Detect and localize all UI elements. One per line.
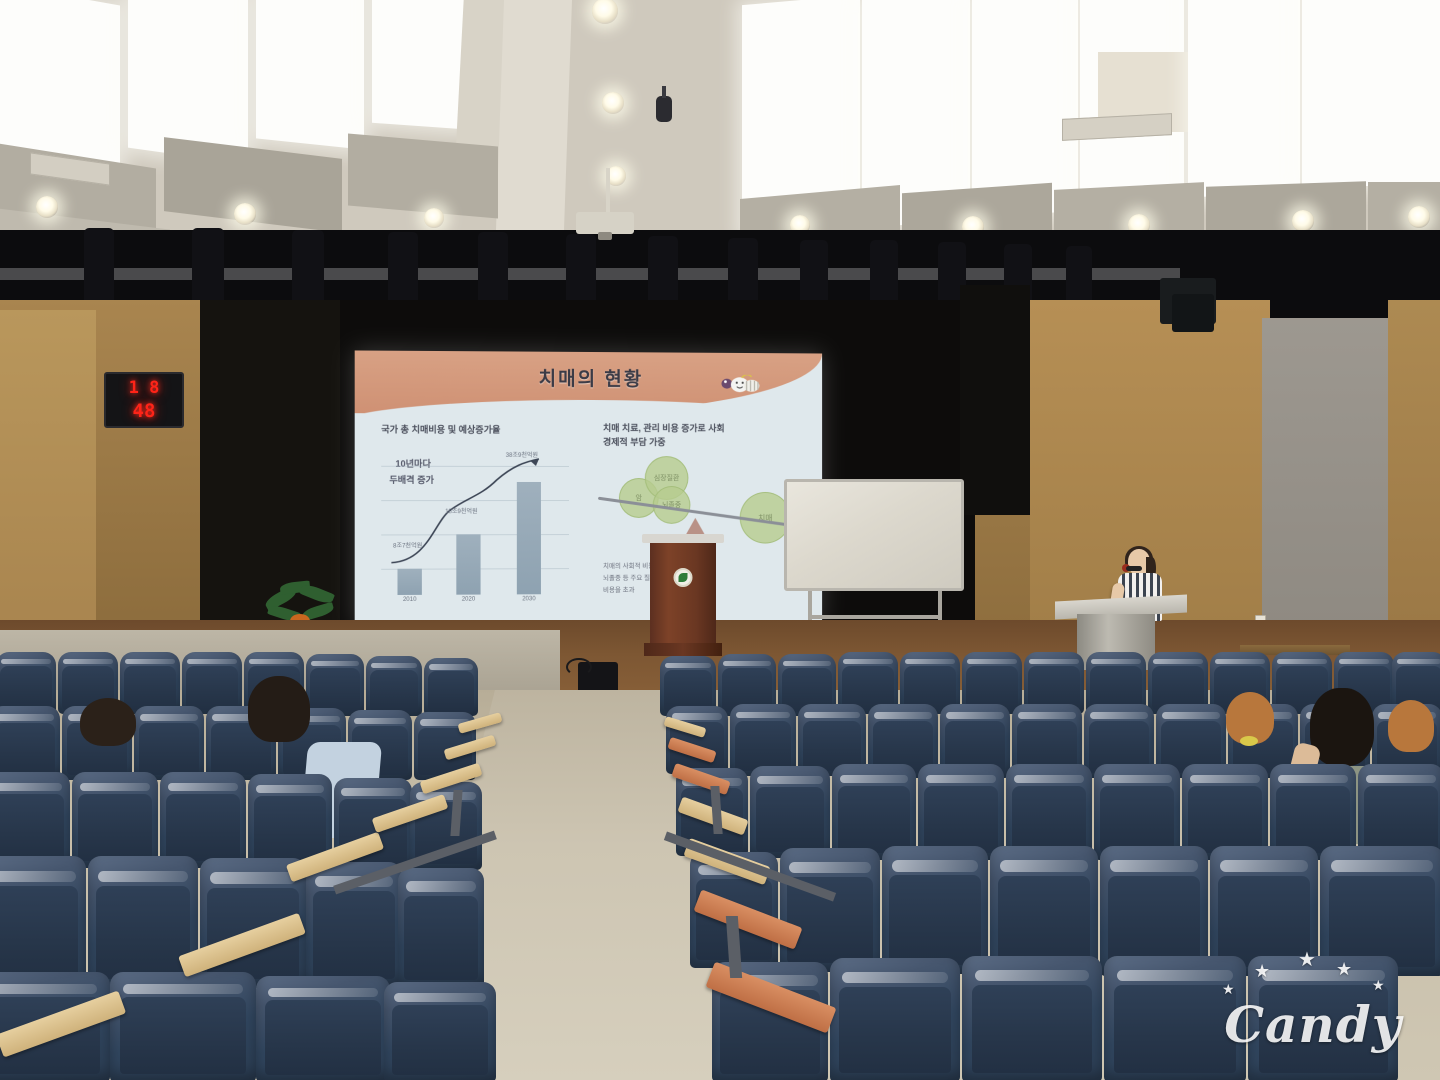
audience-hair-tie xyxy=(1240,736,1258,746)
bar-chart: 8조7천억원 18조9천억원 38조9천억원 2010 2020 2030 xyxy=(377,444,579,596)
ceiling-light-panel xyxy=(372,0,464,129)
ceiling-tile xyxy=(348,133,498,218)
slide-left-heading: 국가 총 치매비용 및 예상증가율 xyxy=(381,423,563,437)
seat[interactable] xyxy=(398,868,484,988)
seat[interactable] xyxy=(962,956,1102,1080)
wall-mounted-speaker xyxy=(1172,294,1214,332)
seat[interactable] xyxy=(120,652,180,714)
seat[interactable] xyxy=(160,772,246,868)
ceiling-downlight xyxy=(424,208,444,228)
ceiling-projector xyxy=(576,212,634,234)
gooseneck-microphone xyxy=(1126,566,1142,571)
projection-screen: 치매의 현황 국가 총 치매비용 및 예상증가율 10년마다 두배격 증가 xyxy=(355,350,822,625)
podium-top xyxy=(642,534,724,543)
ceiling xyxy=(0,0,1440,250)
bar-value-label: 38조9천억원 xyxy=(487,450,557,459)
podium-body xyxy=(650,543,716,643)
seat[interactable] xyxy=(0,772,70,868)
seat[interactable] xyxy=(0,856,86,988)
wall-right-grey-panel xyxy=(1262,318,1390,648)
slide-right-heading-2: 경제적 부담 가중 xyxy=(603,436,810,449)
ceiling-pillar xyxy=(496,0,573,240)
security-camera-icon xyxy=(656,96,672,122)
audience-person-head xyxy=(80,698,136,746)
bar-value-label: 8조7천억원 xyxy=(375,540,440,549)
seat[interactable] xyxy=(72,772,158,868)
bar-value-label: 18조9천억원 xyxy=(428,506,495,515)
ceiling-downlight xyxy=(1292,210,1314,232)
ceiling-light-panel xyxy=(1302,0,1440,186)
mobile-whiteboard xyxy=(784,479,964,591)
seat[interactable] xyxy=(882,846,988,974)
projector-mount-pole xyxy=(606,168,610,214)
seat[interactable] xyxy=(780,848,880,972)
podium-base xyxy=(644,643,722,656)
wall-left-wood-panel xyxy=(0,310,96,630)
auditorium-photo: 1 8 48 치매의 현황 국가 총 치매비용 및 예상증가율 10년마다 두배… xyxy=(0,0,1440,1080)
bar-2010 xyxy=(397,569,421,595)
led-line-1: 1 8 xyxy=(106,378,182,398)
bee-icon xyxy=(718,375,763,395)
slide-right-heading-1: 치매 치료, 관리 비용 증가로 사회 xyxy=(603,422,810,436)
seat[interactable] xyxy=(306,654,364,716)
leaf-emblem-icon xyxy=(674,568,693,587)
bar-2030 xyxy=(517,482,541,594)
seat[interactable] xyxy=(134,706,204,780)
wall-right-dark xyxy=(960,285,1030,515)
projector-lens-icon xyxy=(598,232,612,240)
seat[interactable] xyxy=(256,976,390,1080)
bar-2020 xyxy=(456,534,480,594)
seat[interactable] xyxy=(830,958,960,1080)
ceiling-downlight xyxy=(1408,206,1430,228)
whiteboard-crossbar xyxy=(808,615,942,619)
ceiling-light-panel xyxy=(256,0,364,150)
seat[interactable] xyxy=(182,652,242,714)
seat[interactable] xyxy=(0,652,56,714)
seat[interactable] xyxy=(1104,956,1246,1080)
ceiling-downlight xyxy=(36,196,58,218)
presentation-slide: 치매의 현황 국가 총 치매비용 및 예상증가율 10년마다 두배격 증가 xyxy=(355,350,822,625)
bar-x-label: 2010 xyxy=(391,597,428,603)
bar-x-label: 2030 xyxy=(511,596,547,602)
seat[interactable] xyxy=(0,706,60,780)
seat[interactable] xyxy=(384,982,496,1080)
bar-x-label: 2020 xyxy=(450,597,486,603)
audience-person-head xyxy=(1388,700,1434,752)
led-line-2: 48 xyxy=(106,400,182,422)
seat[interactable] xyxy=(750,766,830,858)
seat[interactable] xyxy=(110,972,256,1080)
camera-mount xyxy=(662,86,666,98)
ceiling-downlight xyxy=(592,0,618,24)
seat[interactable] xyxy=(424,658,478,716)
audience-person-head xyxy=(248,676,310,742)
ceiling-downlight xyxy=(602,92,624,114)
wall-right-far-wood xyxy=(1388,300,1440,660)
seat[interactable] xyxy=(366,656,422,716)
ceiling-downlight xyxy=(234,203,256,225)
monitor-cable xyxy=(566,658,592,676)
stage-podium xyxy=(646,534,720,656)
led-clock-sign: 1 8 48 xyxy=(104,372,184,428)
seat[interactable] xyxy=(1248,956,1398,1080)
ceiling-light-panel xyxy=(1188,0,1300,197)
